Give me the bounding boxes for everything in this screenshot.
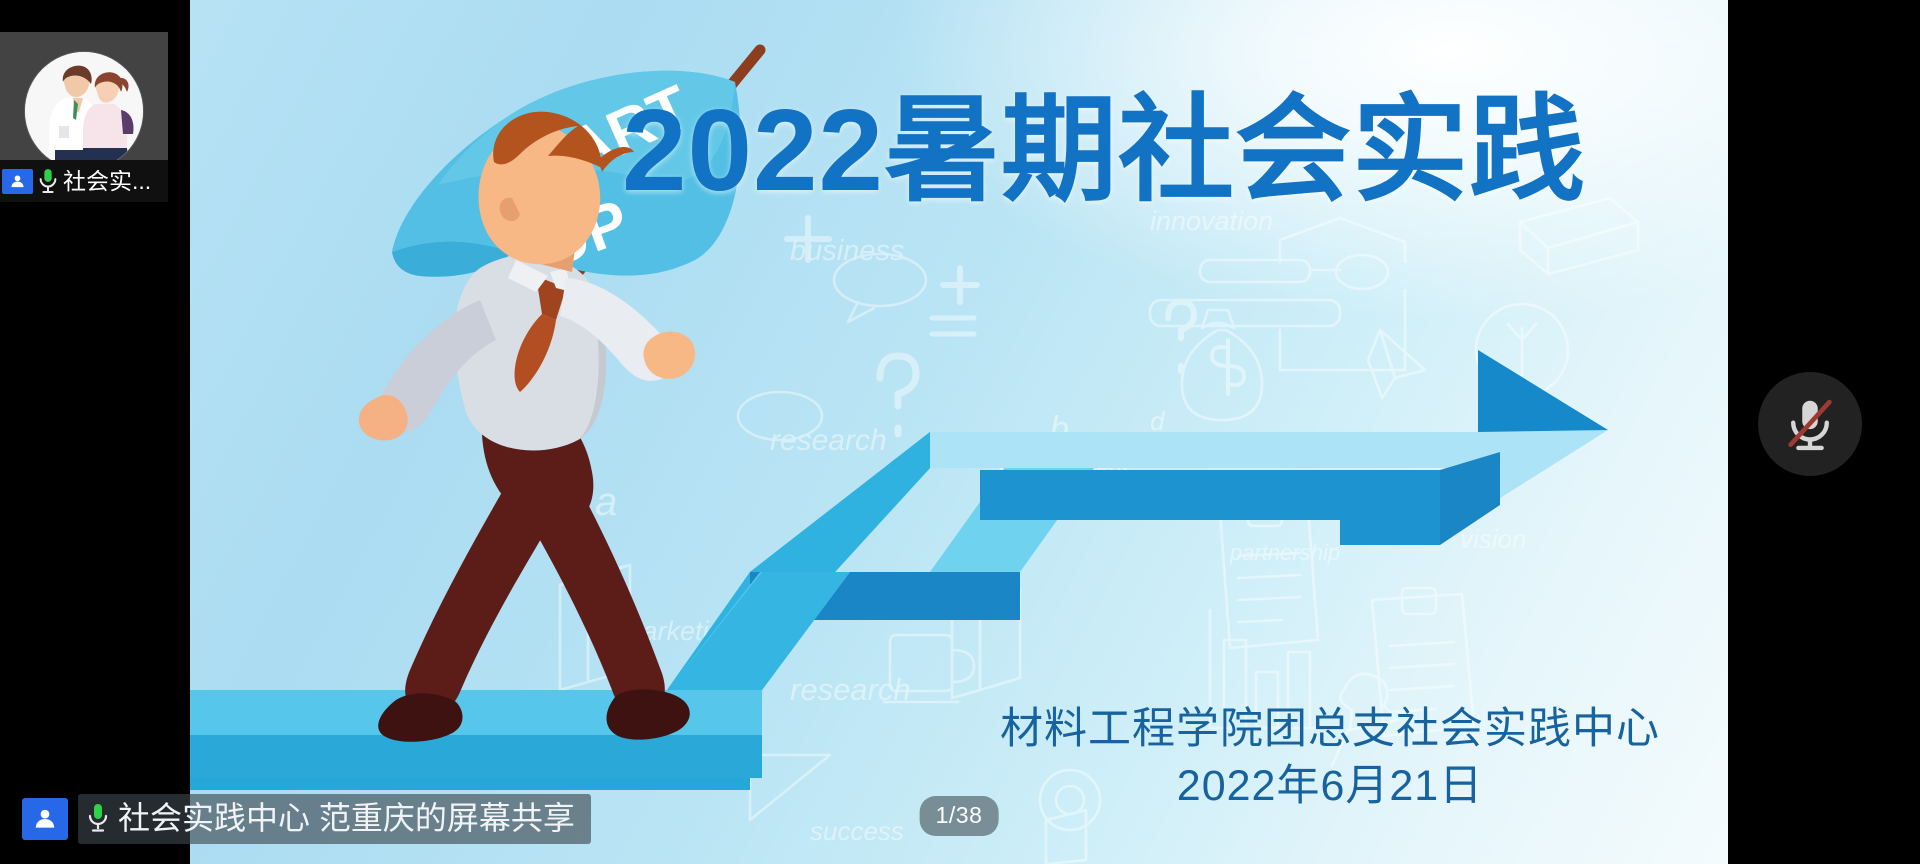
organization-name: 材料工程学院团总支社会实践中心 <box>1000 703 1660 755</box>
microphone-icon <box>86 802 110 834</box>
thumbnail-label-bar: 社会实... <box>0 160 168 202</box>
share-label-wrap: 社会实践中心 范重庆的屏幕共享 <box>78 794 591 844</box>
participant-thumbnail[interactable]: 社会实... <box>0 32 168 202</box>
participant-name: 社会实... <box>63 170 151 193</box>
svg-text:marketing: marketing <box>620 616 739 646</box>
avatar <box>25 52 143 170</box>
svg-text:partnership: partnership <box>1229 540 1340 565</box>
screen-share-indicator[interactable]: 社会实践中心 范重庆的屏幕共享 <box>22 794 591 844</box>
svg-text:b: b <box>1050 410 1069 448</box>
shared-screen-content: innovation business research management … <box>190 0 1728 864</box>
zoom-meeting-window: innovation business research management … <box>0 0 1920 864</box>
svg-text:research: research <box>770 424 887 457</box>
microphone-muted-icon <box>1779 393 1841 455</box>
microphone-icon <box>37 167 59 195</box>
slide-footer: 材料工程学院团总支社会实践中心 2022年6月21日 <box>1000 703 1660 812</box>
page-indicator: 1/38 <box>920 796 999 836</box>
svg-text:management: management <box>1000 450 1129 475</box>
svg-text:a: a <box>595 480 617 524</box>
svg-text:vision: vision <box>1460 524 1526 554</box>
svg-text:business: business <box>790 235 904 267</box>
page-title: 2022暑期社会实践 <box>190 92 1728 208</box>
person-icon <box>2 169 33 194</box>
presentation-date: 2022年6月21日 <box>1000 760 1660 812</box>
mute-toggle-button[interactable] <box>1758 372 1862 476</box>
svg-text:research: research <box>790 672 911 707</box>
share-status-label: 社会实践中心 范重庆的屏幕共享 <box>118 798 575 838</box>
person-icon <box>22 798 68 840</box>
svg-text:d: d <box>1150 406 1166 436</box>
svg-text:success: success <box>810 816 904 846</box>
svg-text:c: c <box>1095 454 1110 487</box>
